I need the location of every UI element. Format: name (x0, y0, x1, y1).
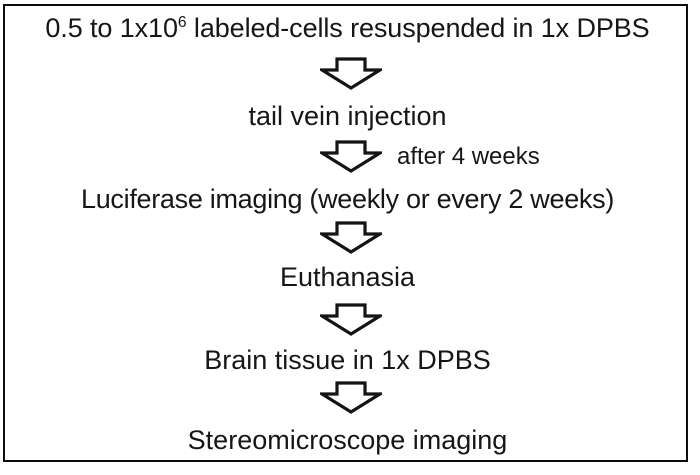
down-block-arrow-icon (320, 57, 382, 90)
flow-step-cells: 0.5 to 1x106 labeled-cells resuspended i… (5, 13, 688, 44)
flow-step-luciferase: Luciferase imaging (weekly or every 2 we… (5, 184, 688, 215)
down-block-arrow-icon (320, 221, 382, 254)
flowchart-frame: 0.5 to 1x106 labeled-cells resuspended i… (3, 4, 688, 462)
flow-step-cells-superscript: 6 (178, 14, 187, 31)
flow-step-injection: tail vein injection (5, 101, 688, 132)
flow-step-stereomicroscope: Stereomicroscope imaging (5, 425, 688, 456)
flow-step-euthanasia: Euthanasia (5, 262, 688, 293)
flow-step-brain-tissue: Brain tissue in 1x DPBS (5, 345, 688, 376)
flow-step-cells-prefix: 0.5 to 1x10 (45, 13, 178, 43)
down-block-arrow-icon (320, 303, 382, 336)
down-block-arrow-icon (320, 381, 382, 414)
down-block-arrow-icon (320, 140, 382, 173)
flow-step-cells-suffix: labeled-cells resuspended in 1x DPBS (187, 13, 650, 43)
annotation-after-4-weeks: after 4 weeks (397, 143, 540, 171)
